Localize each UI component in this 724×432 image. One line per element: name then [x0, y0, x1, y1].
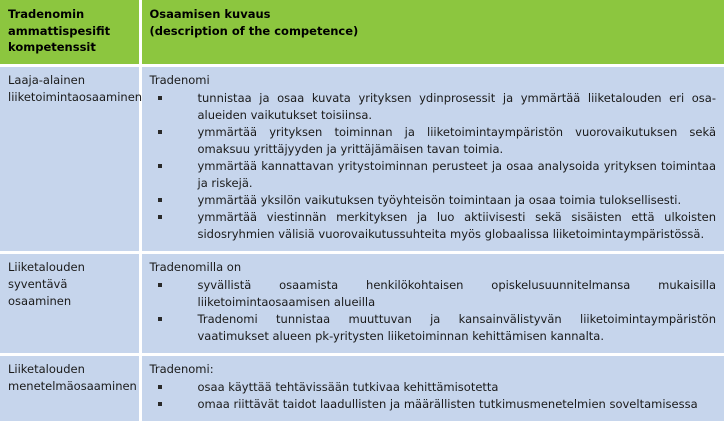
list-item: Tradenomi tunnistaa muuttuvan ja kansain… — [150, 311, 717, 345]
list-item: syvällistä osaamista henkilökohtaisen op… — [150, 277, 717, 311]
list-item: ymmärtää yrityksen toiminnan ja liiketoi… — [150, 124, 717, 158]
list-item: ymmärtää viestinnän merkityksen ja luo a… — [150, 209, 717, 243]
table-body: Laaja-alainen liiketoimintaosaaminen Tra… — [0, 65, 724, 421]
header-description-label-fi: Osaamisen kuvaus — [150, 6, 717, 23]
list-item: osaa käyttää tehtävissään tutkivaa kehit… — [150, 379, 717, 396]
row-category-label: Laaja-alainen liiketoimintaosaaminen — [8, 73, 142, 104]
list-item-text: syvällistä osaamista henkilökohtaisen op… — [198, 277, 717, 311]
competence-table: Tradenomin ammattispesifit kompetenssit … — [0, 0, 724, 421]
table-row: Liiketalouden syventävä osaaminen Traden… — [0, 252, 724, 354]
header-competences-label: Tradenomin ammattispesifit kompetenssit — [8, 7, 110, 54]
table-header: Tradenomin ammattispesifit kompetenssit … — [0, 0, 724, 65]
list-item-text: ymmärtää kannattavan yritystoiminnan per… — [198, 158, 717, 192]
row-description-cell: Tradenomilla on syvällistä osaamista hen… — [140, 252, 724, 354]
list-item-text: osaa käyttää tehtävissään tutkivaa kehit… — [198, 379, 717, 396]
table-row: Liiketalouden menetelmäosaaminen Tradeno… — [0, 354, 724, 421]
header-description-label-en: (description of the competence) — [150, 23, 717, 40]
row-lead-text: Tradenomilla on — [150, 259, 717, 276]
list-item-text: Tradenomi tunnistaa muuttuvan ja kansain… — [198, 311, 717, 345]
table-row: Laaja-alainen liiketoimintaosaaminen Tra… — [0, 65, 724, 252]
list-item: tunnistaa ja osaa kuvata yrityksen ydinp… — [150, 90, 717, 124]
list-item-text: tunnistaa ja osaa kuvata yrityksen ydinp… — [198, 90, 717, 124]
row-category-cell: Liiketalouden syventävä osaaminen — [0, 252, 140, 354]
row-lead-text: Tradenomi: — [150, 361, 717, 378]
list-item-text: ymmärtää viestinnän merkityksen ja luo a… — [198, 209, 717, 243]
row-category-cell: Liiketalouden menetelmäosaaminen — [0, 354, 140, 421]
row-bullet-list: syvällistä osaamista henkilökohtaisen op… — [150, 277, 717, 345]
list-item-text: ymmärtää yrityksen toiminnan ja liiketoi… — [198, 124, 717, 158]
header-row: Tradenomin ammattispesifit kompetenssit … — [0, 0, 724, 65]
row-description-cell: Tradenomi tunnistaa ja osaa kuvata yrity… — [140, 65, 724, 252]
list-item-text: omaa riittävät taidot laadullisten ja mä… — [198, 396, 717, 413]
row-description-cell: Tradenomi: osaa käyttää tehtävissään tut… — [140, 354, 724, 421]
list-item: ymmärtää yksilön vaikutuksen työyhteisön… — [150, 192, 717, 209]
list-item: ymmärtää kannattavan yritystoiminnan per… — [150, 158, 717, 192]
list-item: omaa riittävät taidot laadullisten ja mä… — [150, 396, 717, 413]
row-category-cell: Laaja-alainen liiketoimintaosaaminen — [0, 65, 140, 252]
list-item-text: ymmärtää yksilön vaikutuksen työyhteisön… — [198, 192, 717, 209]
row-lead-text: Tradenomi — [150, 72, 717, 89]
header-cell-description: Osaamisen kuvaus (description of the com… — [140, 0, 724, 65]
header-cell-competences: Tradenomin ammattispesifit kompetenssit — [0, 0, 140, 65]
row-category-label: Liiketalouden syventävä osaaminen — [8, 260, 85, 308]
row-bullet-list: tunnistaa ja osaa kuvata yrityksen ydinp… — [150, 90, 717, 243]
row-bullet-list: osaa käyttää tehtävissään tutkivaa kehit… — [150, 379, 717, 413]
row-category-label: Liiketalouden menetelmäosaaminen — [8, 362, 137, 393]
